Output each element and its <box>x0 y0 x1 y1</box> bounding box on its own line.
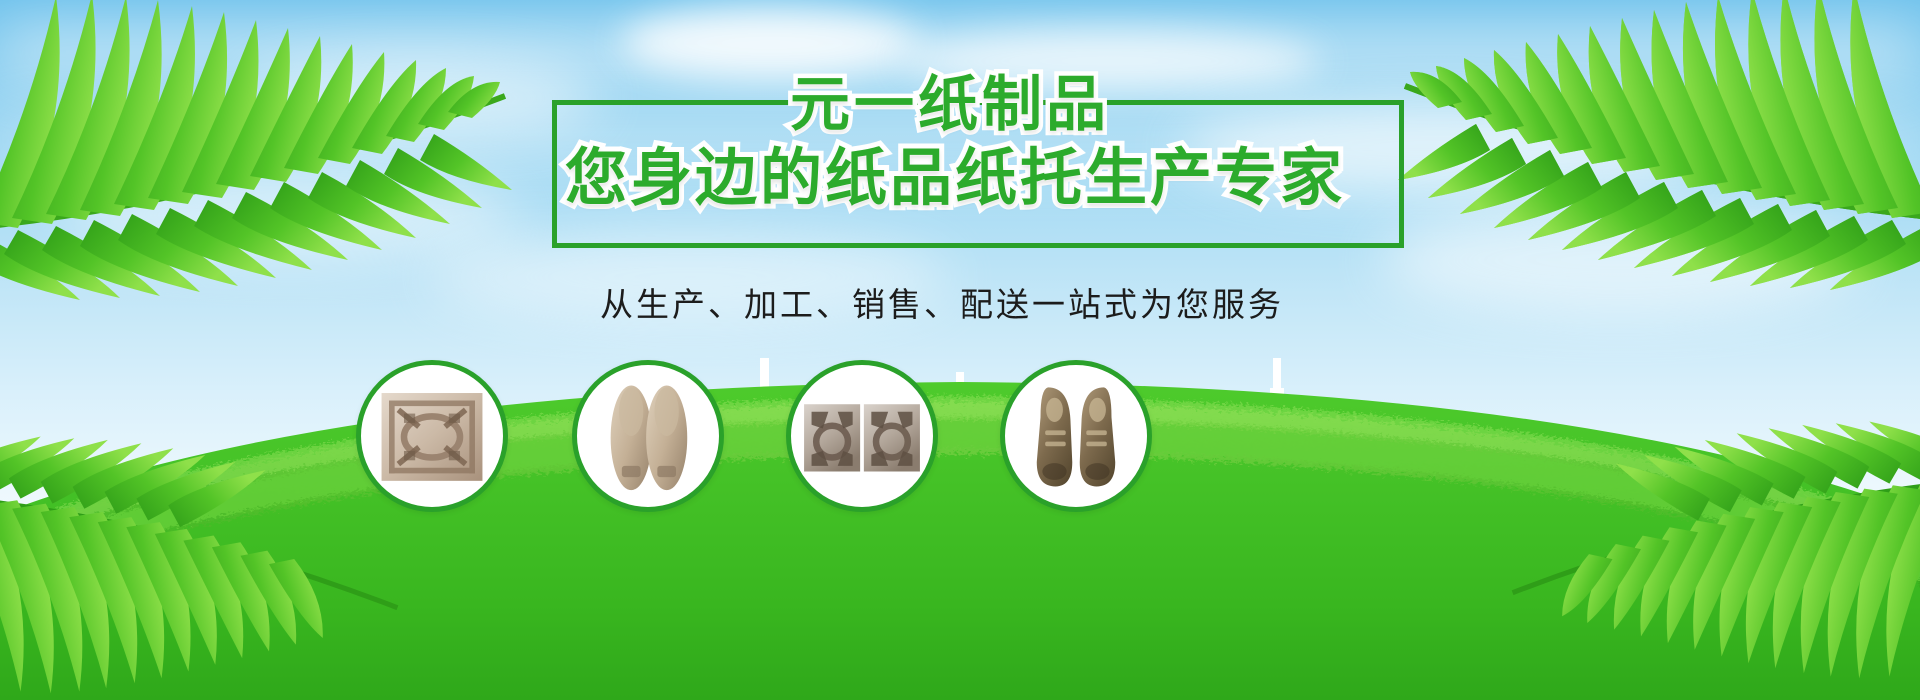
molded-pulp-shoe-trees-icon <box>577 365 719 507</box>
product-circle-1[interactable] <box>356 360 508 512</box>
molded-pulp-square-tray-icon <box>361 365 503 507</box>
promotional-banner: 元一纸制品 您身边的纸品纸托生产专家 从生产、加工、销售、配送一站式为您服务 <box>0 0 1920 700</box>
product-circle-3[interactable] <box>786 360 938 512</box>
product-circle-4[interactable] <box>1000 360 1152 512</box>
molded-pulp-double-tray-icon <box>791 365 933 507</box>
molded-pulp-shoe-forms-icon <box>1005 365 1147 507</box>
headline-slogan: 您身边的纸品纸托生产专家 <box>565 148 1345 210</box>
brand-title: 元一纸制品 <box>790 75 1110 135</box>
subtitle-text: 从生产、加工、销售、配送一站式为您服务 <box>600 285 1284 325</box>
product-circle-2[interactable] <box>572 360 724 512</box>
green-hill <box>0 300 1920 700</box>
